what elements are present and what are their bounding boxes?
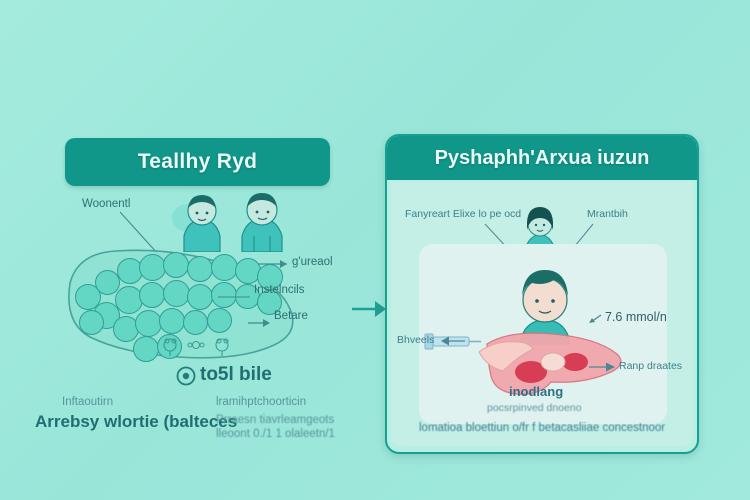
footer-right-line2: lleoont 0./1 1 olaleetn/1: [216, 428, 335, 440]
right-panel: Pyshaphh'Arxua iuzun Fanyreart Elixe lo …: [385, 134, 699, 454]
footer-right-line1: Prraesn tiavrleamgeots: [216, 414, 334, 426]
diagram-canvas: Teallhy Ryd Woonentl: [0, 0, 750, 500]
arrow-ramp-rate: [587, 360, 623, 374]
footer-right-caption: lramihptchoorticin: [216, 396, 306, 408]
arrow-vessels: [435, 334, 469, 348]
footer-left-caption: Inftaoutirn: [62, 396, 113, 408]
vessels-label: Bhveels: [397, 334, 434, 346]
ramp-rate-label: Ranp draates: [619, 360, 682, 372]
reading-pointer-icon: [589, 312, 605, 326]
molecule-icon: [158, 336, 238, 358]
right-panel-body: Fanyreart Elixe lo pe ocd Mrantbih: [391, 182, 693, 446]
right-panel-title: Pyshaphh'Arxua iuzun: [435, 147, 650, 170]
arrow-beta-cells: [246, 316, 276, 330]
glucose-reading: 7.6 mmol/n: [605, 310, 667, 324]
total-bile-label: to5l bile: [200, 364, 272, 386]
left-panel-header: Teallhy Ryd: [65, 138, 330, 186]
left-panel-title: Teallhy Ryd: [138, 150, 258, 174]
caption-foot: lomatioa bloettiun o/fr f betacasliiae c…: [419, 422, 665, 434]
footer-left-strong: Arrebsy wlortie (balteces: [35, 412, 237, 432]
caption-sub: pocsrpinved dnoeno: [487, 402, 582, 414]
right-panel-header: Pyshaphh'Arxua iuzun: [387, 136, 697, 180]
caption-strong: inodlang: [509, 384, 563, 399]
left-panel: Teallhy Ryd Woonentl: [20, 130, 360, 450]
insulin-cells-label: Instelncils: [254, 284, 305, 296]
target-icon: [176, 366, 196, 386]
beta-cells-label: Betare: [274, 310, 308, 322]
